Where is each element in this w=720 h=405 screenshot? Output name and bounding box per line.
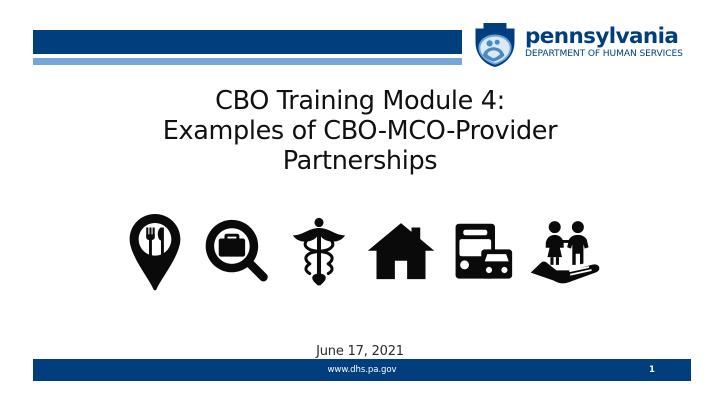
header-bar-primary: [33, 30, 462, 54]
family-on-hand-support-icon: [528, 206, 602, 298]
logo-subtitle: DEPARTMENT OF HUMAN SERVICES: [525, 49, 701, 60]
slide-canvas: pennsylvania DEPARTMENT OF HUMAN SERVICE…: [0, 0, 720, 405]
footer-page-number: 1: [649, 359, 655, 381]
slide-title: CBO Training Module 4: Examples of CBO-M…: [60, 86, 660, 176]
title-line-1: CBO Training Module 4:: [60, 86, 660, 116]
house-icon: [364, 206, 438, 298]
header-accent-bars: [33, 30, 462, 65]
logo-wordmark-group: pennsylvania DEPARTMENT OF HUMAN SERVICE…: [525, 24, 701, 60]
title-line-2: Examples of CBO-MCO-Provider: [60, 116, 660, 146]
logo-wordmark: pennsylvania: [525, 24, 701, 49]
pennsylvania-keystone-family-icon: [469, 22, 521, 68]
food-location-pin-icon: [118, 206, 192, 298]
title-line-3: Partnerships: [60, 146, 660, 176]
header-bar-accent: [33, 58, 462, 65]
slide-date: June 17, 2021: [0, 344, 720, 359]
caduceus-medical-icon: [282, 206, 356, 298]
footer-bar: www.dhs.pa.gov 1: [33, 359, 691, 381]
pennsylvania-dhs-logo: pennsylvania DEPARTMENT OF HUMAN SERVICE…: [469, 22, 701, 68]
bus-and-car-transportation-icon: [446, 206, 520, 298]
footer-website-url: www.dhs.pa.gov: [33, 359, 691, 381]
social-determinants-icon-strip: [118, 206, 602, 298]
job-search-briefcase-magnifier-icon: [200, 206, 274, 298]
